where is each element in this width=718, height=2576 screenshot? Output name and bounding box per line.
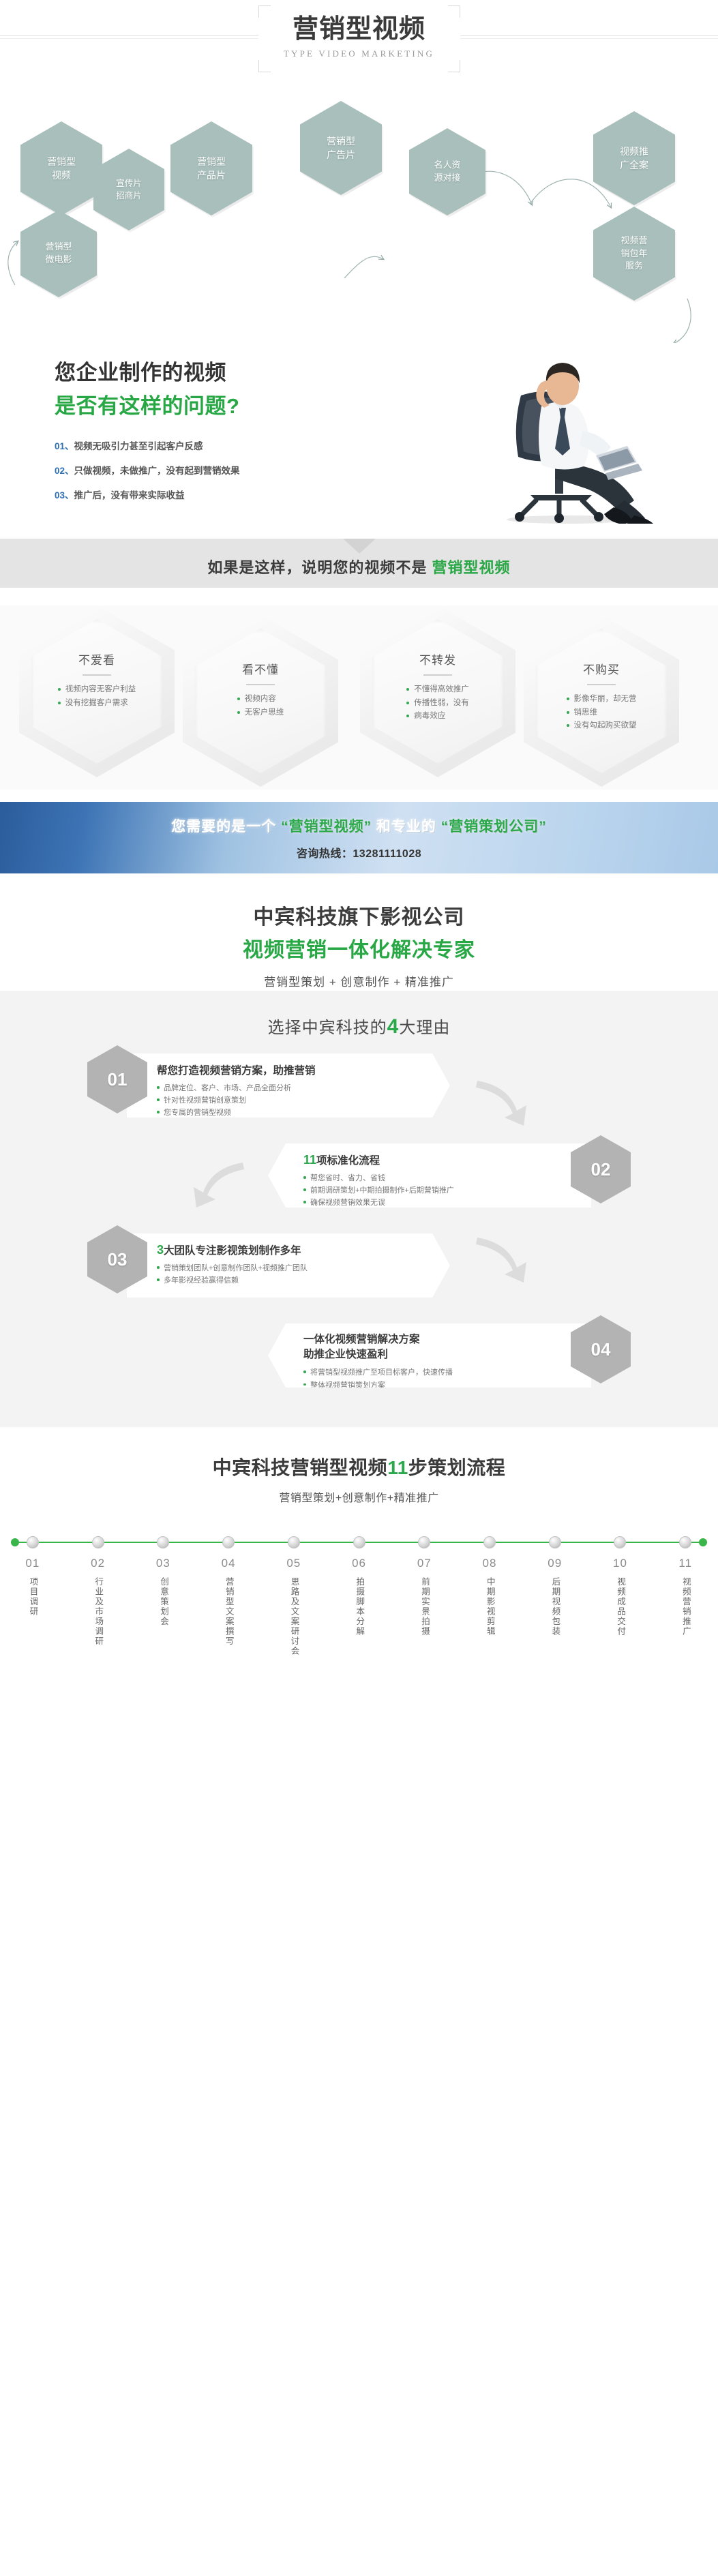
hex-card-6-label: 视频推 广全案 (620, 145, 648, 173)
blue-part-1: 您需要的是一个 (171, 819, 281, 835)
bullet: 将营销型视频推广至项目标客户，快速传播 (303, 1366, 573, 1379)
timeline-step-4-label: 营销型文案撰写 (222, 1577, 235, 1647)
timeline-step-10-label: 视频成品交付 (614, 1577, 627, 1636)
page-header: 营销型视频 TYPE VIDEO MARKETING (0, 0, 718, 80)
timeline-dot-icon (483, 1536, 496, 1548)
timeline-subheading: 营销型策划+创意制作+精准推广 (0, 1488, 718, 1505)
problem-card-2-title: 看不懂 (242, 660, 279, 677)
company-line-1: 中宾科技旗下影视公司 (0, 900, 718, 930)
timeline-dot-icon (353, 1536, 365, 1548)
bullet: 传播性弱，没有 (406, 697, 469, 710)
problem-card-4-inner: 不购买 影像华丽，却无营 销思维 没有勾起购买欲望 (536, 629, 667, 773)
timeline-step-8[interactable]: 08 中期影视剪辑 (457, 1532, 522, 1660)
timeline-step-2-label: 行业及市场调研 (91, 1577, 104, 1647)
gray-banner-section: 如果是这样，说明您的视频不是 营销型视频 (0, 524, 718, 605)
timeline-dot-icon (92, 1536, 104, 1548)
timeline-dot-icon (222, 1536, 235, 1548)
timeline-heading-after: 步策划流程 (408, 1457, 506, 1478)
reason-badge-3-number: 03 (108, 1249, 128, 1270)
timeline-dot-icon (157, 1536, 169, 1548)
problem-card-3-title: 不转发 (419, 650, 456, 668)
problem-card-1[interactable]: 不爱看 视频内容无客户利益 没有挖掘客户需求 (19, 605, 175, 777)
header-title-box: 营销型视频 TYPE VIDEO MARKETING (258, 5, 460, 72)
timeline-step-11-number: 11 (653, 1557, 718, 1570)
corner-bracket-bottom-left-icon (258, 60, 271, 72)
four-reasons-section: 选择中宾科技的4大理由 01 帮您打造视频营销方案，助推营销 品牌定位、客户、市… (0, 991, 718, 1427)
timeline-dot-icon (418, 1536, 430, 1548)
timeline-step-3[interactable]: 03 创意策划会 (130, 1532, 196, 1660)
blue-banner: 您需要的是一个 “营销型视频” 和专业的 “营销策划公司” 咨询热线：13281… (0, 802, 718, 873)
problem-card-1-inner: 不爱看 视频内容无客户利益 没有挖掘客户需求 (31, 619, 162, 764)
company-line-2: 视频营销一体化解决专家 (0, 933, 718, 963)
marketing-video-landing-page: 营销型视频 TYPE VIDEO MARKETING 营销型 视频 宣传片 招商… (0, 0, 718, 1693)
hex-card-8-label: 视频营 销包年 服务 (620, 235, 647, 273)
problem-card-2-bullets: 视频内容 无客户思维 (237, 693, 284, 719)
timeline-heading-number: 11 (387, 1457, 408, 1478)
hex-card-5-label: 名人资 源对接 (434, 159, 460, 185)
problem-card-3-bullets: 不懂得高效推广 传播性弱，没有 病毒效应 (406, 683, 469, 723)
bullet: 无客户思维 (237, 706, 284, 720)
timeline-step-3-label: 创意策划会 (157, 1577, 170, 1627)
timeline-step-8-number: 08 (457, 1557, 522, 1570)
timeline-step-4-number: 04 (196, 1557, 261, 1570)
timeline-step-5-label: 思路及文案研讨会 (287, 1577, 300, 1656)
blue-banner-headline: 您需要的是一个 “营销型视频” 和专业的 “营销策划公司” (171, 815, 547, 836)
problem-card-1-bullets: 视频内容无客户利益 没有挖掘客户需求 (58, 683, 136, 710)
timeline-dot-icon (27, 1536, 39, 1548)
timeline-step-1-label: 项目调研 (26, 1577, 39, 1617)
problem-card-2[interactable]: 看不懂 视频内容 无客户思维 (183, 615, 338, 787)
problem-hex-section: 不爱看 视频内容无客户利益 没有挖掘客户需求 看不懂 视频内容 无客户思维 不转 (0, 605, 718, 790)
corner-bracket-top-left-icon (258, 5, 271, 18)
problem-card-3-divider (423, 674, 452, 676)
problem-card-3[interactable]: 不转发 不懂得高效推广 传播性弱，没有 病毒效应 (360, 605, 515, 777)
timeline-step-11[interactable]: 11 视频营销推广 (653, 1532, 718, 1660)
blue-banner-section: 您需要的是一个 “营销型视频” 和专业的 “营销策划公司” 咨询热线：13281… (0, 790, 718, 885)
question-section: 您企业制作的视频 是否有这样的问题? 01、视频无吸引力甚至引起客户反感 02、… (0, 343, 718, 524)
gray-banner: 如果是这样，说明您的视频不是 营销型视频 (0, 539, 718, 588)
timeline-track: 01 项目调研 02 行业及市场调研 03 创意策划会 04 营销型文案撰写 (0, 1532, 718, 1693)
timeline-dot-icon (288, 1536, 300, 1548)
timeline-step-9[interactable]: 09 后期视频包装 (522, 1532, 588, 1660)
company-heading-section: 中宾科技旗下影视公司 视频营销一体化解决专家 营销型策划 + 创意制作 + 精准… (0, 885, 718, 991)
problem-card-4[interactable]: 不购买 影像华丽，却无营 销思维 没有勾起购买欲望 (524, 615, 679, 787)
timeline-step-3-number: 03 (130, 1557, 196, 1570)
problem-card-4-bullets: 影像华丽，却无营 销思维 没有勾起购买欲望 (567, 693, 637, 733)
hex-card-3-label: 营销型 产品片 (197, 155, 226, 183)
page-subtitle: TYPE VIDEO MARKETING (258, 48, 460, 59)
reason-badge-4-number: 04 (591, 1339, 611, 1360)
blue-part-2: 和专业的 (372, 819, 441, 835)
problem-card-4-title: 不购买 (583, 660, 620, 677)
company-line-3: 营销型策划 + 创意制作 + 精准推广 (0, 972, 718, 989)
timeline-step-7-number: 07 (391, 1557, 457, 1570)
hex-card-4-label: 营销型 广告片 (327, 134, 355, 162)
hex-card-7-label: 营销型 微电影 (45, 241, 72, 267)
timeline-step-9-label: 后期视频包装 (548, 1577, 561, 1636)
gray-banner-text-plain: 如果是这样，说明您的视频不是 (207, 559, 432, 576)
problem-card-1-title: 不爱看 (78, 650, 115, 668)
page-title: 营销型视频 (258, 5, 460, 46)
timeline-heading-before: 中宾科技营销型视频 (213, 1457, 388, 1478)
timeline-step-11-label: 视频营销推广 (679, 1577, 692, 1636)
problem-card-2-divider (246, 684, 275, 685)
timeline-step-7-label: 前期实景拍摄 (418, 1577, 431, 1636)
bullet-cont: 销思维 (567, 706, 637, 720)
businessman-photo (455, 360, 667, 524)
timeline-step-1-number: 01 (0, 1557, 65, 1570)
banner-notch-icon (343, 539, 376, 554)
timeline-step-5[interactable]: 05 思路及文案研讨会 (261, 1532, 327, 1660)
timeline-step-7[interactable]: 07 前期实景拍摄 (391, 1532, 457, 1660)
timeline-dot-icon (679, 1536, 691, 1548)
question-item-3-num: 03、 (55, 490, 74, 500)
reason-badge-2-number: 02 (591, 1159, 611, 1180)
timeline-items: 01 项目调研 02 行业及市场调研 03 创意策划会 04 营销型文案撰写 (0, 1532, 718, 1660)
timeline-heading: 中宾科技营销型视频11步策划流程 (0, 1453, 718, 1480)
hotline[interactable]: 咨询热线：13281111028 (297, 844, 421, 860)
service-hex-grid: 营销型 视频 宣传片 招商片 营销型 产品片 营销型 广告片 名人资 源对接 视… (0, 80, 718, 343)
blue-quote-1: “营销型视频” (281, 819, 372, 835)
bullet: 视频内容 (237, 693, 284, 706)
bullet: 视频内容无客户利益 (58, 683, 136, 697)
hotline-number: 13281111028 (353, 848, 421, 860)
bullet: 没有挖掘客户需求 (58, 697, 136, 710)
problem-card-2-inner: 看不懂 视频内容 无客户思维 (195, 629, 326, 773)
problem-card-4-divider (587, 684, 616, 685)
timeline-step-6-number: 06 (327, 1557, 392, 1570)
timeline-step-6-label: 拍摄脚本分解 (353, 1577, 365, 1636)
question-item-2-text: 只做视频，未做推广，没有起到营销效果 (74, 466, 240, 476)
blue-quote-2: “营销策划公司” (441, 819, 547, 835)
problem-card-1-divider (83, 674, 111, 676)
bullet: 影像华丽，却无营 (567, 693, 637, 706)
gray-banner-text-highlight: 营销型视频 (432, 559, 511, 576)
timeline-step-1[interactable]: 01 项目调研 (0, 1532, 65, 1660)
timeline-step-4[interactable]: 04 营销型文案撰写 (196, 1532, 261, 1660)
bullet-cont: 病毒效应 (406, 710, 469, 723)
reason-badge-1-number: 01 (108, 1069, 128, 1090)
timeline-step-2[interactable]: 02 行业及市场调研 (65, 1532, 131, 1660)
corner-bracket-bottom-right-icon (448, 60, 460, 72)
timeline-step-6[interactable]: 06 拍摄脚本分解 (327, 1532, 392, 1660)
bullet: 没有勾起购买欲望 (567, 719, 637, 733)
hotline-label: 咨询热线： (297, 848, 353, 860)
timeline-step-9-number: 09 (522, 1557, 588, 1570)
timeline-dot-icon (614, 1536, 626, 1548)
reason-card-4-bullets: 将营销型视频推广至项目标客户，快速传播 整体视频营销策划方案 (303, 1366, 573, 1391)
timeline-step-5-number: 05 (261, 1557, 327, 1570)
timeline-step-8-label: 中期影视剪辑 (483, 1577, 496, 1636)
timeline-step-10[interactable]: 10 视频成品交付 (588, 1532, 653, 1660)
problem-card-3-inner: 不转发 不懂得高效推广 传播性弱，没有 病毒效应 (372, 619, 503, 764)
bullet: 不懂得高效推广 (406, 683, 469, 697)
question-item-3-text: 推广后，没有带来实际收益 (74, 490, 185, 500)
timeline-dot-icon (549, 1536, 561, 1548)
corner-bracket-top-right-icon (448, 5, 460, 18)
bullet: 整体视频营销策划方案 (303, 1379, 573, 1392)
timeline-section: 中宾科技营销型视频11步策划流程 营销型策划+创意制作+精准推广 01 项目调研… (0, 1427, 718, 1693)
question-item-1-num: 01、 (55, 441, 74, 451)
hex-card-2-label: 宣传片 招商片 (116, 177, 142, 202)
timeline-step-2-number: 02 (65, 1557, 131, 1570)
hex-card-1-label: 营销型 视频 (47, 155, 76, 183)
question-item-2-num: 02、 (55, 466, 74, 476)
timeline-step-10-number: 10 (588, 1557, 653, 1570)
question-item-1-text: 视频无吸引力甚至引起客户反感 (74, 441, 203, 451)
